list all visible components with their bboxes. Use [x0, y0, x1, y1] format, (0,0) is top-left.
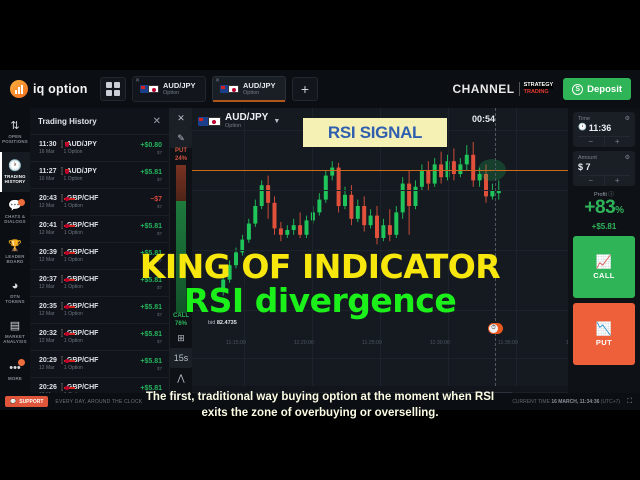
tab-audjpy-2[interactable]: ✕ AUD/JPY Option	[212, 76, 286, 102]
expiry-time-field[interactable]: Time ⚙ 🕐 11:36 − +	[573, 112, 635, 147]
sidebar-item-label: MARKET ANALYSIS	[0, 334, 30, 344]
clock-icon: 🕐	[578, 122, 587, 134]
top-navigation-bar: iq option ✕ AUD/JPY Option ✕ AUD/JPY Opt…	[0, 70, 640, 108]
sidebar-item-label: MORE	[8, 376, 22, 381]
row-amount: −$7$7	[150, 195, 162, 210]
tab-type-label: Option	[243, 90, 276, 97]
row-date-value: 12 Mar	[39, 338, 57, 345]
row-amount: +$5.81$7	[140, 222, 162, 237]
panel-title: Trading History	[38, 117, 97, 126]
row-date-value: 16 Mar	[39, 149, 57, 156]
title-line-2: RSI divergence	[0, 284, 640, 318]
tab-audjpy-1[interactable]: ✕ AUD/JPY Option	[132, 76, 206, 102]
row-amount: +$5.81$7	[140, 357, 162, 372]
caption-line-1: The first, traditional way buying option…	[0, 389, 640, 405]
iq-option-logo-icon	[10, 80, 28, 98]
row-date-value: 16 Mar	[39, 176, 57, 183]
row-instrument: GBP/CHF1 Option	[64, 329, 99, 345]
sidebar-item-label: TRADING HISTORY	[0, 174, 30, 184]
row-time: 20:3212 Mar	[39, 329, 57, 345]
letterbox-top	[0, 0, 640, 70]
table-row[interactable]: 20:2912 MarGBP/CHF1 Option+$5.81$7	[30, 350, 169, 377]
row-instrument: AUD/JPY1 Option	[64, 167, 97, 183]
time-field-label: Time	[578, 116, 590, 122]
sidebar-item-label: OPEN POSITIONS	[0, 134, 30, 144]
put-sentiment-label: PUT	[170, 148, 192, 156]
put-button-label: PUT	[596, 338, 612, 347]
row-time: 11:2716 Mar	[39, 167, 57, 183]
row-instrument: GBP/CHF1 Option	[64, 356, 99, 372]
axis-time-label: 11:35:00	[498, 340, 518, 346]
caption-line-2: exits the zone of overbuying or oversell…	[0, 405, 640, 421]
row-sub-label: 1 Option	[64, 230, 99, 237]
brand-logo[interactable]: iq option	[0, 80, 96, 98]
row-sub-label: 1 Option	[64, 176, 97, 183]
row-sub-label: 1 Option	[64, 203, 99, 210]
chart-pair-title: AUD/JPY	[225, 112, 268, 123]
chevron-down-icon[interactable]: ▼	[273, 118, 280, 125]
row-sub-label: 1 Option	[64, 338, 99, 345]
row-amount-value: +$5.81	[140, 330, 162, 339]
row-amount-value: +$0.80	[140, 141, 162, 150]
bid-value: 82.4735	[217, 320, 237, 326]
row-amount-value: +$5.81	[140, 168, 162, 177]
call-sentiment-pct: 76%	[170, 321, 192, 329]
notification-badge	[18, 199, 25, 206]
row-amount-value: −$7	[150, 195, 162, 204]
row-time: 20:2912 Mar	[39, 356, 57, 372]
brand-label: iq option	[33, 82, 88, 96]
row-amount: +$0.80$7	[140, 141, 162, 156]
table-row[interactable]: 20:3212 MarGBP/CHF1 Option+$5.81$7	[30, 323, 169, 350]
flag-pair-icon	[220, 85, 239, 93]
row-time: 20:4312 Mar	[39, 194, 57, 210]
row-currency-value: $7	[140, 177, 162, 183]
row-amount-value: +$5.81	[140, 222, 162, 231]
sidebar-item-label: CHATS & DIALOGS	[0, 214, 30, 224]
trend-down-icon: 📉	[596, 322, 612, 335]
flag-pair-icon	[140, 85, 159, 93]
title-line-1: KING OF INDICATOR	[0, 250, 640, 284]
candle-chart-icon[interactable]: ⋀	[170, 368, 192, 388]
profit-percentage-unit: %	[615, 205, 623, 216]
deposit-label: Deposit	[587, 84, 622, 95]
axis-time-label: 11:30:00	[430, 340, 450, 346]
indicator-icon[interactable]: ⊞	[170, 328, 192, 348]
bid-readout: bid 82.4735	[208, 320, 237, 326]
newspaper-icon: ▤	[10, 320, 20, 333]
logo-divider	[519, 82, 520, 96]
flag-pair-icon	[198, 117, 221, 126]
sidebar-item-chats-dialogs[interactable]: 💬 CHATS & DIALOGS	[0, 192, 30, 232]
row-time-value: 11:27	[39, 167, 57, 176]
bid-label: bid	[208, 320, 215, 326]
channel-label: CHANNEL	[452, 82, 514, 96]
chart-instrument-label: Option	[225, 123, 268, 130]
sidebar-item-open-positions[interactable]: ⇅ OPEN POSITIONS	[0, 112, 30, 152]
arrows-up-down-icon: ⇅	[10, 120, 19, 133]
row-time-value: 20:43	[39, 194, 57, 203]
sidebar-item-market-analysis[interactable]: ▤ MARKET ANALYSIS	[0, 312, 30, 352]
clock-icon: 🕐	[8, 160, 22, 173]
row-pair-label: AUD/JPY	[67, 168, 97, 175]
amount-field[interactable]: Amount ⚙ $ 7 − +	[573, 151, 635, 186]
row-time: 20:4112 Mar	[39, 221, 57, 237]
row-time-value: 11:30	[39, 140, 57, 149]
row-instrument: AUD/JPY1 Option	[64, 140, 97, 156]
row-amount: +$5.81$7	[140, 330, 162, 345]
put-sentiment-pct: 24%	[170, 156, 192, 164]
channel-sub-bottom: TRADING	[524, 89, 554, 96]
row-sub-label: 1 Option	[64, 365, 99, 372]
row-currency-value: $7	[140, 150, 162, 156]
profit-amount: +$5.81	[573, 222, 635, 231]
axis-time-label: 11:20:00	[294, 340, 314, 346]
row-pair-label: AUD/JPY	[67, 141, 97, 148]
amount-field-value: $ 7	[578, 161, 630, 173]
chart-header: AUD/JPY Option ▼	[198, 112, 280, 130]
caption-overlay: The first, traditional way buying option…	[0, 389, 640, 421]
sidebar-item-more[interactable]: ••• MORE	[0, 352, 30, 392]
deposit-button[interactable]: S Deposit	[563, 78, 631, 100]
expiry-marker-icon[interactable]: ⏱	[488, 323, 503, 334]
time-decrement-button[interactable]: −	[578, 137, 605, 147]
time-field-value-row: 🕐 11:36	[578, 122, 630, 134]
axis-time-label: 11:25:00	[362, 340, 382, 346]
close-icon[interactable]: ✕	[153, 116, 161, 127]
row-date-value: 12 Mar	[39, 203, 57, 210]
row-instrument: GBP/CHF1 Option	[64, 221, 99, 237]
time-increment-button[interactable]: +	[605, 137, 631, 147]
cursor-icon[interactable]: ✎	[170, 128, 192, 148]
notification-badge	[18, 359, 25, 366]
apps-grid-icon[interactable]	[100, 77, 126, 101]
row-currency-value: $7	[140, 366, 162, 372]
row-date-value: 12 Mar	[39, 230, 57, 237]
row-instrument: GBP/CHF1 Option	[64, 194, 99, 210]
row-time: 11:3016 Mar	[39, 140, 57, 156]
sidebar-item-trading-history[interactable]: 🕐 TRADING HISTORY	[0, 152, 30, 192]
row-time-value: 20:29	[39, 356, 57, 365]
trading-history-header: Trading History ✕	[30, 108, 169, 134]
add-tab-button[interactable]: +	[292, 77, 318, 101]
row-time-value: 20:32	[39, 329, 57, 338]
row-currency-value: $7	[140, 231, 162, 237]
profit-percentage: +83%	[573, 198, 635, 221]
amount-increment-button[interactable]: +	[605, 176, 631, 186]
table-row[interactable]: 11:3016 MarAUD/JPY1 Option+$0.80$7	[30, 134, 169, 161]
tab-type-label: Option	[163, 90, 196, 97]
amount-decrement-button[interactable]: −	[578, 176, 605, 186]
table-row[interactable]: 20:4312 MarGBP/CHF1 Option−$7$7	[30, 188, 169, 215]
tab-pair-label: AUD/JPY	[243, 81, 276, 90]
video-title-overlay: KING OF INDICATOR RSI divergence	[0, 250, 640, 318]
row-sub-label: 1 Option	[64, 149, 97, 156]
channel-watermark-logo: CHANNEL STRATEGY TRADING	[452, 82, 553, 96]
gear-icon[interactable]: ⚙	[625, 154, 630, 161]
gear-icon[interactable]: ⚙	[625, 115, 630, 122]
tab-pair-label: AUD/JPY	[163, 81, 196, 90]
row-currency-value: $7	[140, 339, 162, 345]
row-amount-value: +$5.81	[140, 357, 162, 366]
axis-time-label: 11:15:00	[226, 340, 246, 346]
dollar-circle-icon: S	[572, 84, 583, 95]
channel-sub-top: STRATEGY	[524, 82, 554, 89]
table-row[interactable]: 20:4112 MarGBP/CHF1 Option+$5.81$7	[30, 215, 169, 242]
expiry-countdown: 00:54	[472, 114, 495, 124]
amount-field-label: Amount	[578, 155, 597, 161]
row-time-value: 20:41	[39, 221, 57, 230]
row-amount: +$5.81$7	[140, 168, 162, 183]
rsi-signal-text: RSI SIGNAL	[328, 123, 422, 143]
screenshot-frame: iq option ✕ AUD/JPY Option ✕ AUD/JPY Opt…	[0, 0, 640, 480]
close-icon[interactable]: ✕	[215, 78, 220, 84]
time-field-value: 11:36	[589, 122, 612, 134]
profit-percentage-value: +83	[584, 197, 615, 218]
row-currency-value: $7	[150, 204, 162, 210]
timeframe-chip[interactable]: 15s	[170, 348, 192, 368]
close-chart-icon[interactable]: ✕	[170, 108, 192, 128]
rsi-signal-badge: RSI SIGNAL	[303, 118, 447, 147]
close-icon[interactable]: ✕	[135, 78, 140, 84]
table-row[interactable]: 11:2716 MarAUD/JPY1 Option+$5.81$7	[30, 161, 169, 188]
sentiment-put-fill	[176, 165, 186, 201]
row-date-value: 12 Mar	[39, 365, 57, 372]
